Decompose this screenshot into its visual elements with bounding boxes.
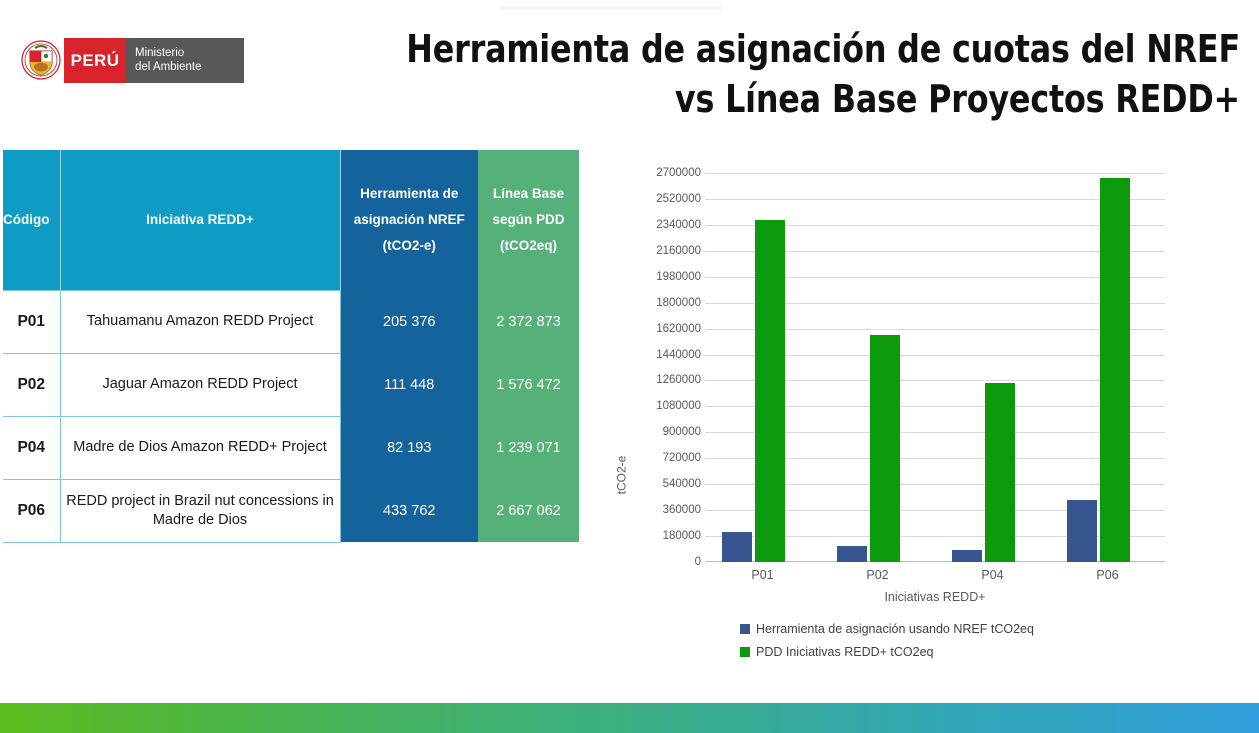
chart-y-tick-label: 2520000	[656, 193, 701, 205]
table-cell-initiative: Jaguar Amazon REDD Project	[60, 353, 340, 416]
chart-y-tick-label: 720000	[663, 452, 701, 464]
chart-bar	[722, 532, 752, 562]
table-cell-nref: 433 762	[340, 479, 478, 542]
peru-ministry-logo: PERÚ Ministerio del Ambiente	[18, 38, 244, 83]
chart-y-tick-label: 1980000	[656, 271, 701, 283]
table-col-header-initiative: Iniciativa REDD+	[60, 150, 340, 290]
chart-y-tick-label: 1440000	[656, 349, 701, 361]
chart-x-tick-label: P02	[866, 568, 888, 582]
slide-title-line1: Herramienta de asignación de cuotas del …	[324, 24, 1240, 74]
chart-bar	[985, 383, 1015, 562]
redd-initiatives-table: Código Iniciativa REDD+ Herramienta de a…	[3, 150, 580, 543]
logo-peru-label: PERÚ	[64, 38, 126, 83]
chart-y-tick-label: 0	[695, 556, 701, 568]
chart-bar	[755, 220, 785, 562]
table-cell-pdd: 1 576 472	[478, 353, 579, 416]
table-row: P04Madre de Dios Amazon REDD+ Project82 …	[3, 416, 579, 479]
chart-x-axis-title: Iniciativas REDD+	[705, 590, 1165, 604]
chart-y-tick-label: 540000	[663, 478, 701, 490]
chart-y-tick-label: 2340000	[656, 219, 701, 231]
slide-title: Herramienta de asignación de cuotas del …	[324, 24, 1240, 124]
chart-y-tick-label: 2160000	[656, 245, 701, 257]
logo-ministry-line2: del Ambiente	[135, 61, 244, 75]
footer-gradient-bar	[0, 703, 1259, 733]
chart-y-tick-label: 1620000	[656, 323, 701, 335]
table-cell-initiative: Madre de Dios Amazon REDD+ Project	[60, 416, 340, 479]
table-col-header-nref-line2: asignación NREF	[341, 207, 479, 233]
table-col-header-pdd-line3: (tCO2eq)	[478, 233, 579, 259]
chart-y-tick-label: 1080000	[656, 400, 701, 412]
peru-coat-of-arms-icon	[18, 38, 64, 83]
table-cell-code: P06	[3, 479, 60, 542]
chart-bar-group	[1050, 173, 1165, 562]
table-cell-pdd: 2 667 062	[478, 479, 579, 542]
chart-legend-item: PDD Iniciativas REDD+ tCO2eq	[740, 645, 1034, 659]
table-col-header-pdd-line2: según PDD	[478, 207, 579, 233]
legend-swatch-icon	[740, 647, 750, 657]
chart-plot-area	[705, 173, 1165, 562]
table-col-header-nref-line3: (tCO2-e)	[341, 233, 479, 259]
table-cell-nref: 205 376	[340, 290, 478, 353]
chart-legend-label: Herramienta de asignación usando NREF tC…	[756, 622, 1034, 636]
table-col-header-pdd: Línea Base según PDD (tCO2eq)	[478, 150, 579, 290]
chart-y-tick-label: 360000	[663, 504, 701, 516]
chart-bar	[837, 546, 867, 562]
table-row: P01Tahuamanu Amazon REDD Project205 3762…	[3, 290, 579, 353]
chart-x-tick-label: P06	[1096, 568, 1118, 582]
table-cell-code: P02	[3, 353, 60, 416]
slide-title-line2: vs Línea Base Proyectos REDD+	[324, 74, 1240, 124]
chart-legend-label: PDD Iniciativas REDD+ tCO2eq	[756, 645, 934, 659]
table-cell-initiative: REDD project in Brazil nut concessions i…	[60, 479, 340, 542]
table-header-row: Código Iniciativa REDD+ Herramienta de a…	[3, 150, 579, 290]
chart-x-tick-label: P04	[981, 568, 1003, 582]
chart-legend: Herramienta de asignación usando NREF tC…	[740, 622, 1034, 668]
chart-y-tick-label: 1800000	[656, 297, 701, 309]
logo-ministry-block: Ministerio del Ambiente	[126, 38, 244, 83]
legend-swatch-icon	[740, 624, 750, 634]
chart-y-tick-label: 180000	[663, 530, 701, 542]
table-cell-code: P01	[3, 290, 60, 353]
chart-y-axis-title: tCO2-e	[614, 456, 628, 495]
table-body: P01Tahuamanu Amazon REDD Project205 3762…	[3, 290, 579, 542]
chart-x-tick-label: P01	[751, 568, 773, 582]
chart-bar	[952, 550, 982, 562]
chart-bar	[870, 335, 900, 562]
top-divider-line	[500, 6, 722, 10]
table-header: Código Iniciativa REDD+ Herramienta de a…	[3, 150, 579, 290]
table-cell-pdd: 1 239 071	[478, 416, 579, 479]
table-col-header-nref: Herramienta de asignación NREF (tCO2-e)	[340, 150, 478, 290]
table-cell-nref: 111 448	[340, 353, 478, 416]
table-row: P02Jaguar Amazon REDD Project111 4481 57…	[3, 353, 579, 416]
chart-legend-item: Herramienta de asignación usando NREF tC…	[740, 622, 1034, 636]
table-col-header-nref-line1: Herramienta de	[341, 181, 479, 207]
chart-y-tick-label: 2700000	[656, 167, 701, 179]
chart-y-tick-label: 900000	[663, 426, 701, 438]
chart-bar	[1067, 500, 1097, 562]
grouped-bar-chart: tCO2-e 018000036000054000072000090000010…	[608, 150, 1208, 670]
table-col-header-pdd-line1: Línea Base	[478, 181, 579, 207]
chart-bar	[1100, 178, 1130, 562]
chart-bar-group	[705, 173, 820, 562]
table-cell-nref: 82 193	[340, 416, 478, 479]
table-cell-pdd: 2 372 873	[478, 290, 579, 353]
table-col-header-code: Código	[3, 150, 60, 290]
chart-bar-group	[820, 173, 935, 562]
chart-y-tick-label: 1260000	[656, 374, 701, 386]
chart-bar-group	[935, 173, 1050, 562]
table-row: P06REDD project in Brazil nut concession…	[3, 479, 579, 542]
slide-canvas: PERÚ Ministerio del Ambiente Herramienta…	[0, 0, 1259, 733]
logo-ministry-line1: Ministerio	[135, 47, 244, 61]
table-cell-code: P04	[3, 416, 60, 479]
table-cell-initiative: Tahuamanu Amazon REDD Project	[60, 290, 340, 353]
